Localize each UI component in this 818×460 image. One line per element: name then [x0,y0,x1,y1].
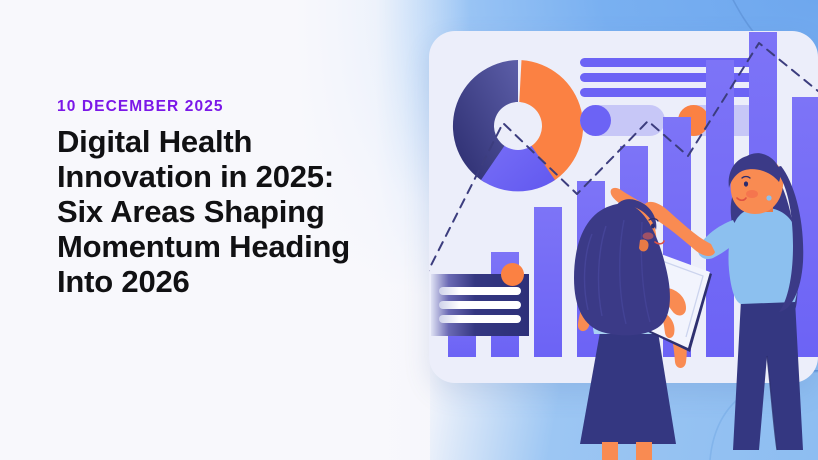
publish-date: 10 DECEMBER 2025 [57,98,417,115]
info-card-dot-icon [501,263,524,286]
header-text-line-3 [580,88,768,97]
headline-line-4: Momentum Heading [57,229,350,264]
info-card-line-2 [439,301,521,309]
header-text-line-1 [580,58,768,67]
info-card-line-3 [439,315,521,323]
page-title: Digital Health Innovation in 2025: Six A… [57,124,417,299]
toggle-purple[interactable] [580,105,665,136]
donut-chart [448,56,588,196]
toggle-purple-knob[interactable] [580,105,611,136]
headline-line-5: Into 2026 [57,264,190,299]
headline-line-3: Six Areas Shaping [57,194,325,229]
woman-with-clipboard [540,192,720,460]
hero-text-column: 10 DECEMBER 2025 Digital Health Innovati… [57,98,417,299]
info-card-line-1 [439,287,521,295]
header-text-line-2 [580,73,768,82]
article-hero-banner: 10 DECEMBER 2025 Digital Health Innovati… [0,0,818,460]
headline-line-1: Digital Health [57,124,252,159]
headline-line-2: Innovation in 2025: [57,159,334,194]
